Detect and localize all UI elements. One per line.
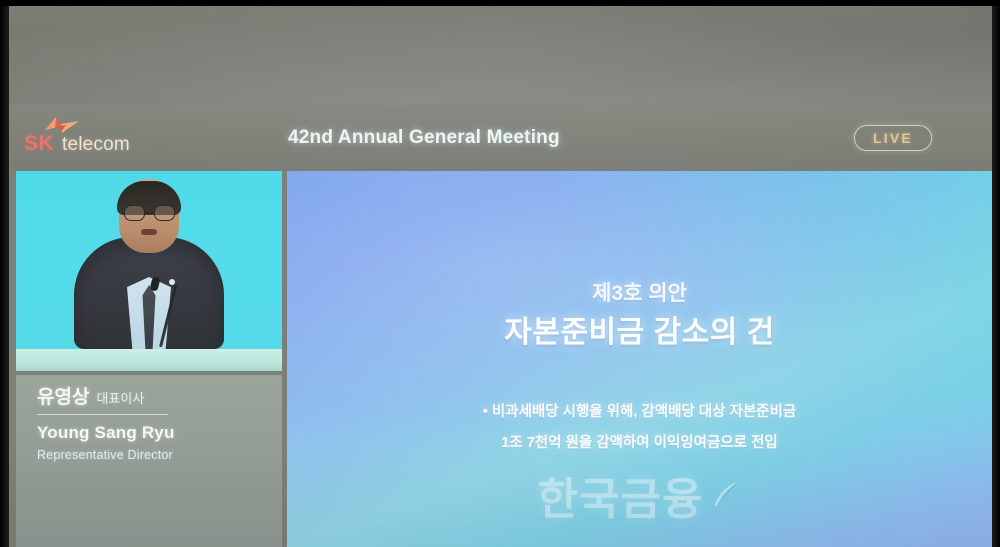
- watermark-label: 한국금융: [538, 463, 704, 527]
- photographed-screen-frame: SK telecom 42nd Annual General Meeting L…: [0, 0, 1000, 547]
- nameplate-divider: [37, 414, 168, 415]
- speaker-video-feed[interactable]: [16, 171, 282, 371]
- podium: [16, 349, 282, 371]
- live-status-badge: LIVE: [854, 125, 932, 151]
- speaker-korean-line: 유영상 대표이사: [37, 382, 144, 409]
- slide-agenda-number: 제3호 의안: [287, 277, 992, 307]
- watermark: 한국금융: [538, 463, 742, 527]
- glasses-left-lens-icon: [124, 205, 145, 221]
- screen-bezel-left: [0, 0, 9, 547]
- meeting-title: 42nd Annual General Meeting: [288, 127, 560, 149]
- projection-wall-backdrop: [8, 4, 992, 107]
- slide-title: 자본준비금 감소의 건: [287, 307, 992, 351]
- presentation-slide[interactable]: 제3호 의안 자본준비금 감소의 건 • 비과세배당 시행을 위해, 감액배당 …: [287, 171, 992, 547]
- speaker-nameplate-card: 유영상 대표이사 Young Sang Ryu Representative D…: [16, 375, 282, 547]
- feather-swoosh-icon: [707, 478, 741, 512]
- speaker-panel: 유영상 대표이사 Young Sang Ryu Representative D…: [16, 171, 282, 547]
- glasses-right-lens-icon: [154, 205, 175, 221]
- slide-bullet-line-1: • 비과세배당 시행을 위해, 감액배당 대상 자본준비금: [287, 400, 992, 421]
- speaker-mouth: [141, 229, 157, 235]
- broadcast-header-bar: SK telecom 42nd Annual General Meeting L…: [8, 105, 992, 171]
- speaker-title-kr: 대표이사: [96, 388, 144, 407]
- slide-content: 제3호 의안 자본준비금 감소의 건 • 비과세배당 시행을 위해, 감액배당 …: [287, 171, 992, 547]
- glasses-bridge-icon: [145, 212, 153, 214]
- live-badge-label: LIVE: [873, 130, 913, 146]
- screen-bezel-top: [0, 0, 1000, 6]
- sk-logo-sub: telecom: [62, 134, 130, 156]
- speaker-title-en: Representative Director: [37, 448, 173, 462]
- speaker-name-kr: 유영상: [37, 382, 89, 409]
- speaker-name-en: Young Sang Ryu: [37, 423, 175, 443]
- broadcast-screen: SK telecom 42nd Annual General Meeting L…: [8, 105, 992, 547]
- sk-telecom-logo: SK telecom: [18, 116, 138, 160]
- screen-bezel-right: [992, 0, 1000, 547]
- sk-logo-brand: SK: [24, 132, 54, 156]
- slide-bullet-line-2: 1조 7천억 원을 감액하여 이익잉여금으로 전입: [287, 431, 992, 452]
